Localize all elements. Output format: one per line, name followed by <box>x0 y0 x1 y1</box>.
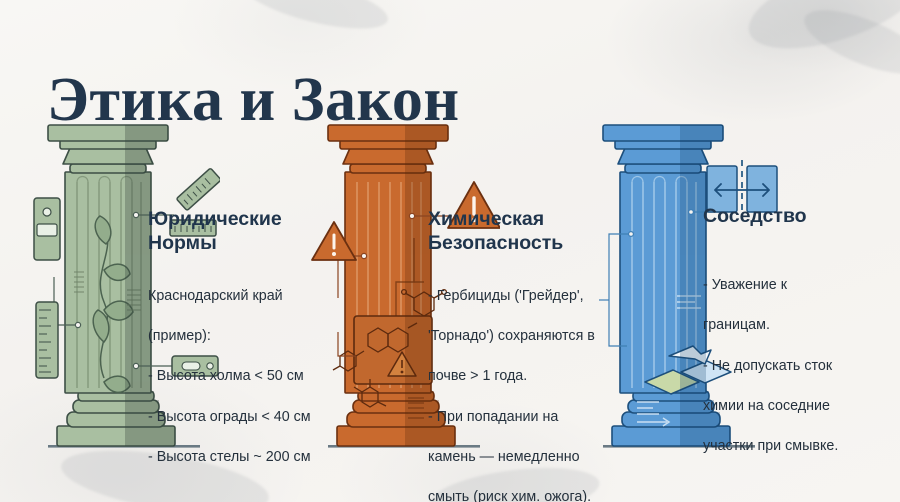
spirit-level-icon <box>34 198 60 260</box>
heading-neighborhood: Соседство <box>703 205 888 229</box>
text-block-legal-norms: Юридические Нормы Краснодарский край (пр… <box>148 208 328 487</box>
body-legal-norms: Краснодарский край (пример): - Высота хо… <box>148 266 328 488</box>
heading-legal-norms: Юридические Нормы <box>148 208 328 256</box>
body-neighborhood: - Уважение к границам. - Не допускать ст… <box>703 255 888 477</box>
measuring-tape-icon <box>36 302 58 378</box>
slide-canvas: Этика и Закон <box>0 0 900 502</box>
text-block-neighborhood: Соседство - Уважение к границам. - Не до… <box>703 205 888 477</box>
